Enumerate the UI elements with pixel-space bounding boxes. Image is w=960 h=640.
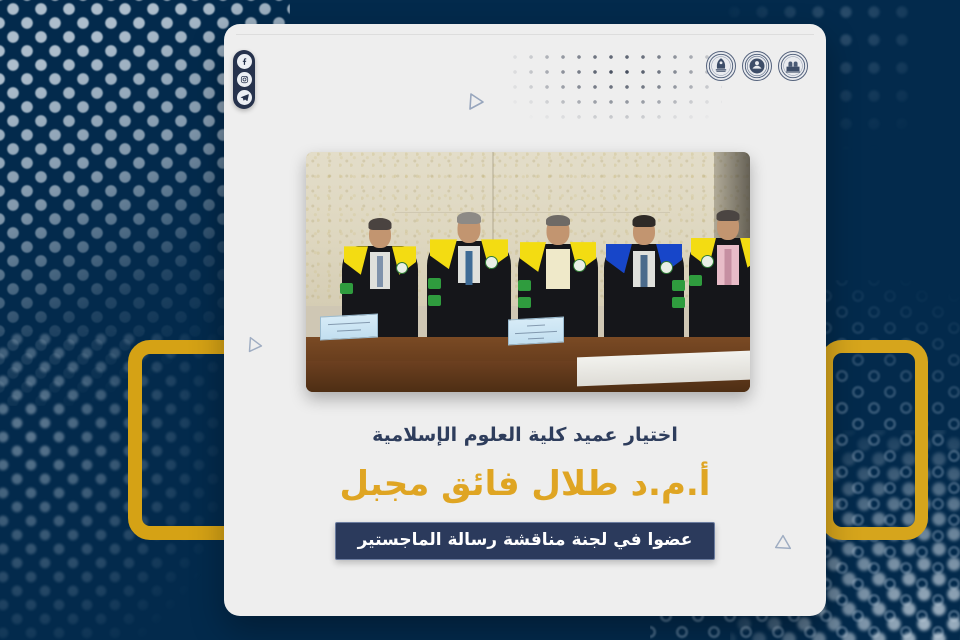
necktie: [466, 251, 473, 285]
triangle-decoration-top: [464, 90, 488, 114]
card-top-divider: [236, 34, 814, 35]
poster-name: أ.م.د طلال فائق مجبل: [224, 464, 826, 504]
person-hair: [546, 215, 570, 226]
photo-person-4: [602, 210, 686, 352]
poster-subtitle: اختيار عميد كلية العلوم الإسلامية: [224, 424, 826, 446]
photo-table-white-panel: [577, 350, 750, 385]
gold-frame-right: [820, 340, 928, 540]
poster-banner: عضوا في لجنة مناقشة رسالة الماجستير: [335, 522, 716, 560]
placard-text-line: [337, 330, 362, 333]
placard-text-line: [527, 325, 544, 327]
event-photo: [306, 152, 750, 392]
instagram-icon[interactable]: [237, 72, 252, 87]
poster-card: اختيار عميد كلية العلوم الإسلامية أ.م.د …: [224, 24, 826, 616]
triangle-decoration-left: [244, 334, 266, 356]
robe-crest: [660, 261, 673, 274]
necktie: [377, 256, 383, 287]
robe-crest: [701, 255, 714, 268]
facebook-icon[interactable]: [237, 54, 252, 69]
university-seal-3: [778, 51, 808, 81]
poster-canvas: اختيار عميد كلية العلوم الإسلامية أ.م.د …: [0, 0, 960, 640]
photo-person-2: [426, 210, 512, 352]
robe-green-tab: [518, 297, 531, 308]
necktie: [725, 249, 732, 284]
dot-grid-decoration: [512, 54, 722, 126]
robe-green-tab: [428, 295, 441, 306]
social-links-rail: [233, 50, 255, 109]
university-seal-1: [706, 51, 736, 81]
poster-banner-row: عضوا في لجنة مناقشة رسالة الماجستير: [224, 522, 826, 560]
robe-green-tab: [428, 278, 441, 289]
institution-seals: [706, 51, 808, 81]
name-placard-1: [320, 314, 378, 341]
robe-crest: [396, 262, 408, 274]
robe-green-tab: [340, 283, 353, 294]
photo-content: [306, 152, 750, 392]
photo-person-5: [688, 210, 750, 352]
person-hair: [633, 215, 656, 227]
robe-green-tab: [518, 280, 531, 291]
name-placard-2: [508, 317, 564, 346]
necktie: [641, 255, 648, 288]
placard-text-line: [528, 338, 543, 340]
person-hair: [717, 210, 740, 221]
robe-green-tab: [672, 297, 685, 308]
person-hair: [457, 212, 481, 224]
person-hair: [369, 218, 392, 230]
placard-text-line: [328, 322, 371, 326]
telegram-icon[interactable]: [237, 90, 252, 105]
placard-text-line: [515, 331, 556, 335]
robe-green-tab: [672, 280, 685, 291]
dress-shirt: [546, 249, 570, 289]
university-seal-2: [742, 51, 772, 81]
robe-green-tab: [689, 275, 702, 286]
